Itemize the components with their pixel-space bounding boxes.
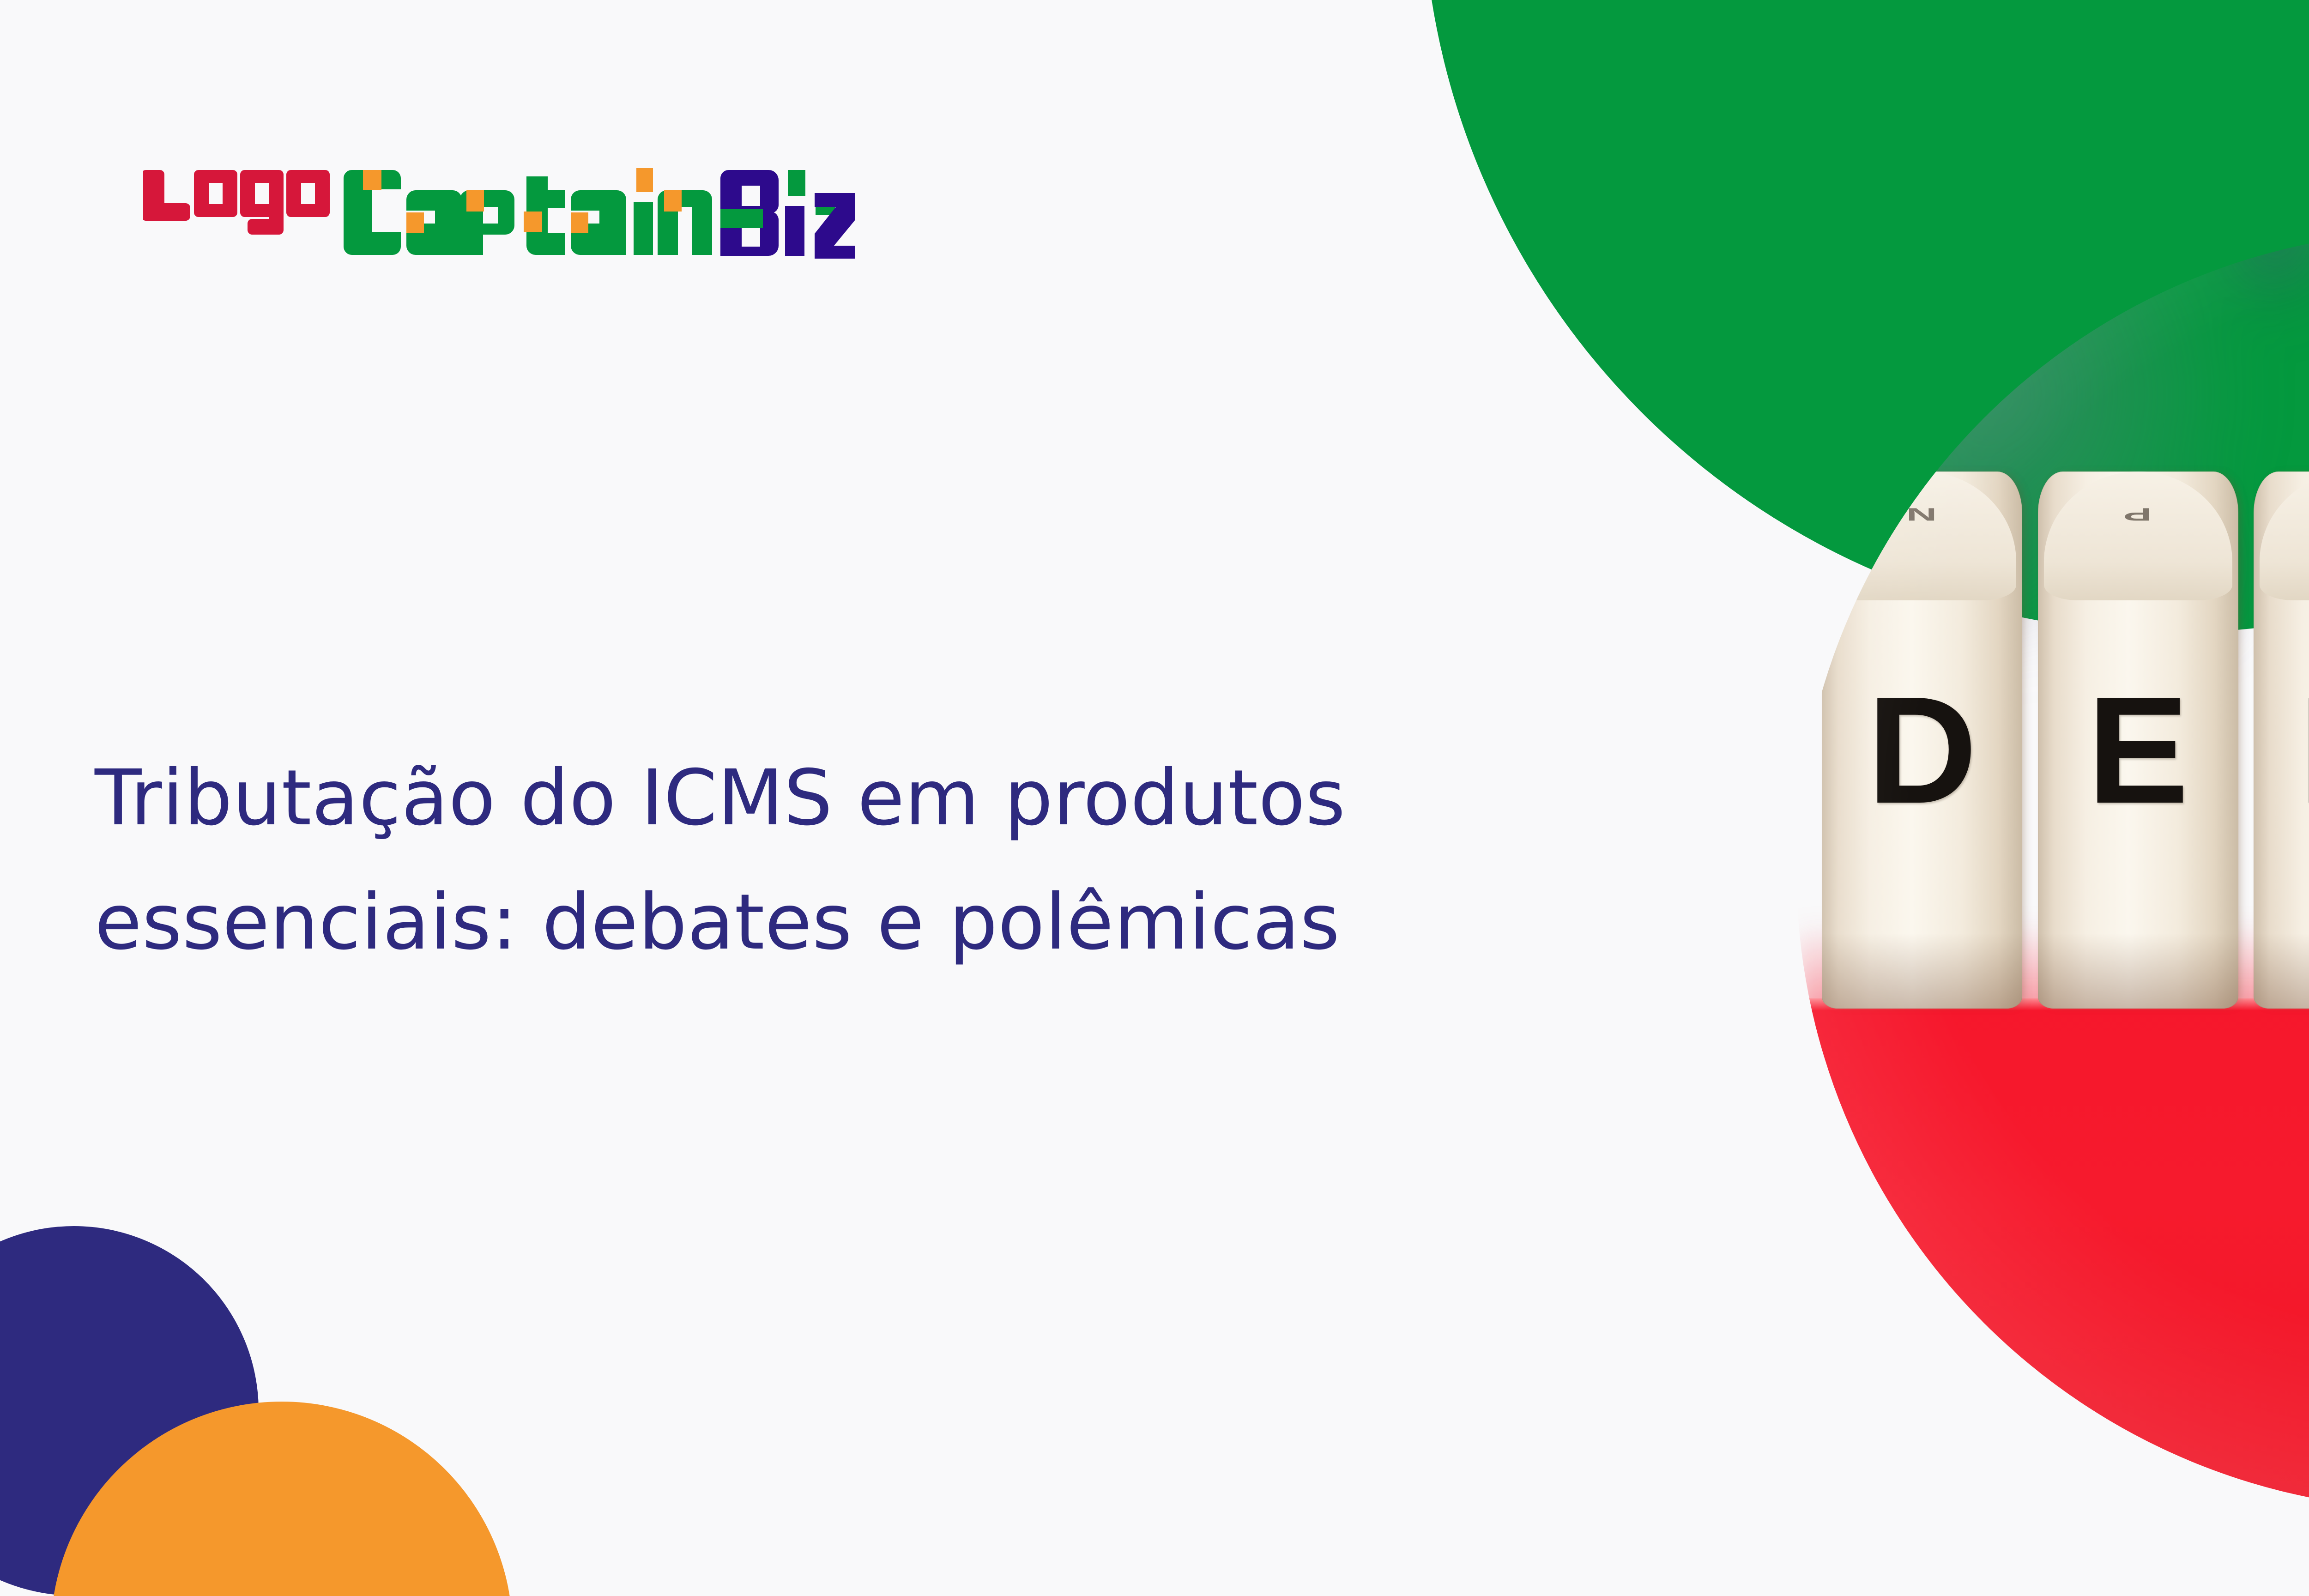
dice-row: N D P E T B N A I T	[1822, 472, 2309, 1009]
page-title-line-1: Tributação do ICMS em produtos	[95, 737, 1549, 861]
die-shadow	[1822, 933, 2022, 1009]
die-shadow	[2038, 933, 2238, 1009]
die-shadow	[2254, 933, 2309, 1009]
die-letter: D	[1867, 674, 1977, 826]
letter-die: P E	[2038, 472, 2238, 1009]
captain-wordmark	[344, 168, 712, 255]
captainbiz-logo[interactable]	[143, 166, 919, 259]
die-top-letter: N	[1822, 504, 2022, 525]
photo-inner: N D P E T B N A I T	[1796, 231, 2309, 1510]
die-letter: E	[2087, 674, 2189, 826]
letter-die: T B	[2254, 472, 2309, 1009]
die-top-letter: P	[2038, 504, 2238, 525]
die-top-letter: T	[2254, 504, 2309, 525]
page-title: Tributação do ICMS em produtos essenciai…	[95, 737, 1549, 985]
page-title-line-2: essenciais: debates e polêmicas	[95, 861, 1549, 985]
logo-badge-wordmark	[143, 170, 330, 235]
die-letter: B	[2299, 674, 2309, 826]
captainbiz-logo-mark	[143, 166, 919, 259]
biz-wordmark	[720, 170, 855, 259]
debate-photo-circle: N D P E T B N A I T	[1796, 231, 2309, 1510]
letter-die: N D	[1822, 472, 2022, 1009]
red-table-surface	[1796, 998, 2309, 1510]
